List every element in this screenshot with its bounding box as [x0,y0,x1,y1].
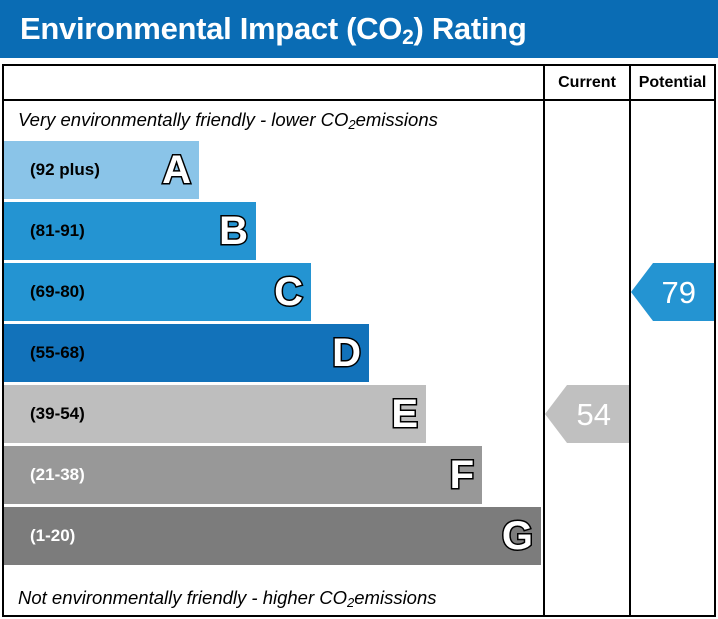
column-divider-potential [629,66,631,615]
band-letter-b: B [219,211,248,251]
current-rating-arrow: 54 [545,385,629,443]
band-letter-a: A [162,150,191,190]
caption-top-subscript: 2 [348,117,355,132]
caption-bottom-subscript: 2 [347,595,354,610]
rating-band-c: (69-80) C [4,263,311,321]
band-letter-f: F [450,455,474,495]
ratings-table: Current Potential Very environmentally f… [2,64,716,617]
chart-title-band: Environmental Impact (CO2) Rating [0,0,718,58]
band-range-c: (69-80) [4,282,85,302]
rating-band-e: (39-54) E [4,385,426,443]
rating-bands-panel: Very environmentally friendly - lower CO… [4,101,543,617]
column-header-current: Current [545,66,629,99]
current-rating-value: 54 [577,399,629,430]
band-letter-d: D [332,333,361,373]
potential-rating-value: 79 [662,277,714,308]
title-subscript: 2 [402,26,413,49]
band-range-e: (39-54) [4,404,85,424]
epc-environmental-impact-chart: Environmental Impact (CO2) Rating Curren… [0,0,718,619]
band-letter-c: C [274,272,303,312]
band-range-f: (21-38) [4,465,85,485]
rating-band-b: (81-91) B [4,202,256,260]
band-letter-g: G [502,516,533,556]
page-title: Environmental Impact (CO2) Rating [0,11,526,47]
caption-bottom: Not environmentally friendly - higher CO… [4,579,543,617]
band-range-a: (92 plus) [4,160,100,180]
rating-band-f: (21-38) F [4,446,482,504]
caption-top: Very environmentally friendly - lower CO… [4,101,543,139]
band-range-b: (81-91) [4,221,85,241]
band-letter-e: E [391,394,418,434]
column-header-potential: Potential [631,66,714,99]
rating-band-a: (92 plus) A [4,141,199,199]
rating-band-d: (55-68) D [4,324,369,382]
potential-rating-arrow: 79 [631,263,714,321]
band-range-g: (1-20) [4,526,75,546]
column-divider-current [543,66,545,615]
rating-band-g: (1-20) G [4,507,541,565]
band-range-d: (55-68) [4,343,85,363]
